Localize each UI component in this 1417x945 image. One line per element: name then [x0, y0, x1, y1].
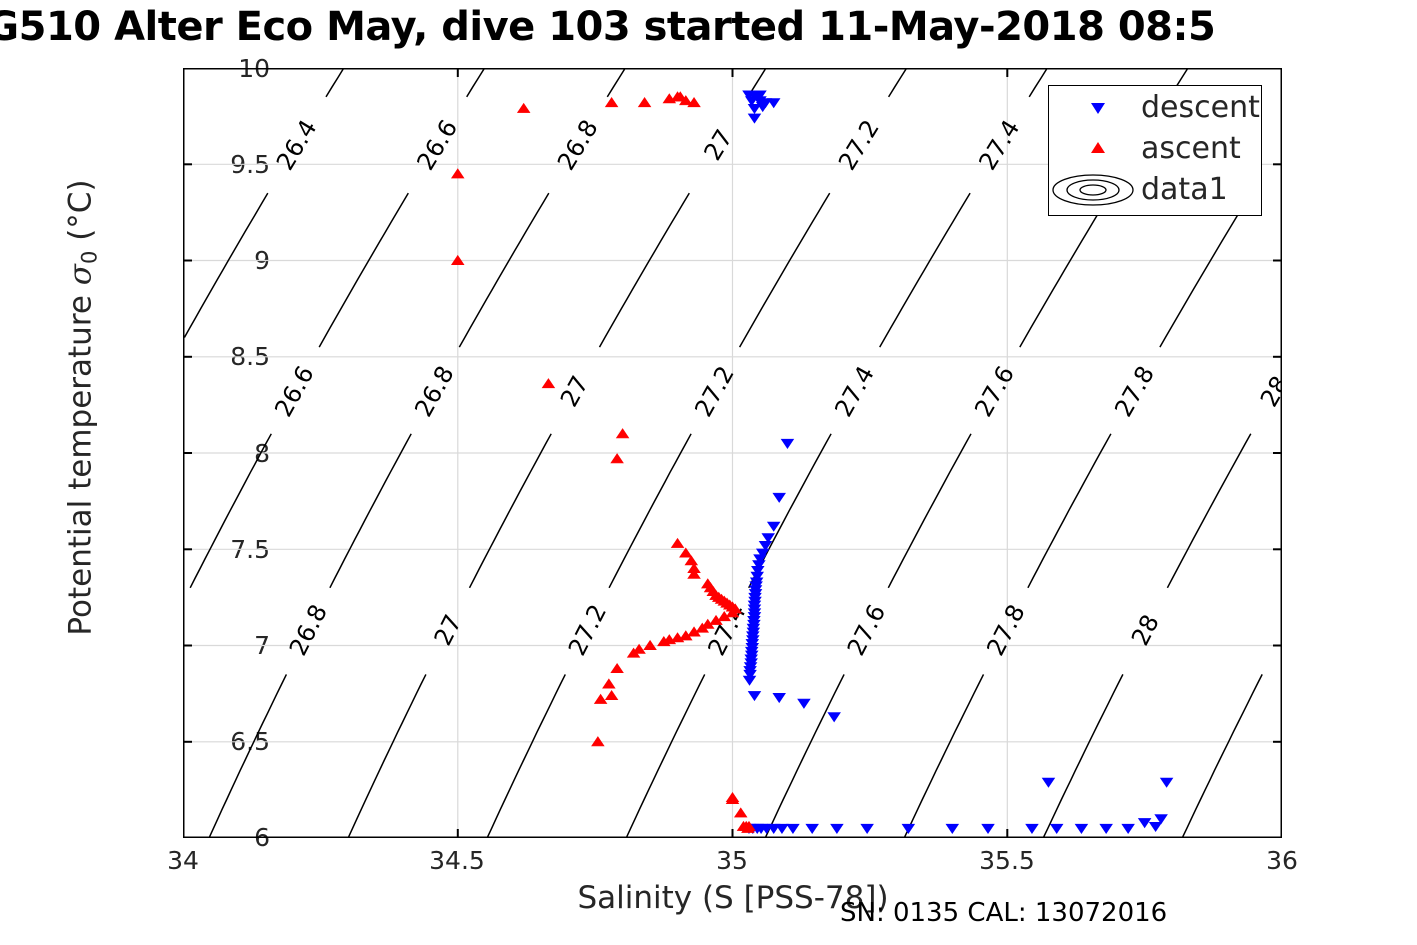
legend-label: descent [1141, 88, 1260, 127]
y-axis-label: Potential temperature σ0 (°C) [63, 58, 102, 758]
y-axis-label-prefix: Potential temperature [63, 285, 99, 635]
x-tick-label: 34.5 [397, 846, 517, 875]
contour-label: 27.4 [973, 115, 1025, 175]
x-tick-label: 36 [1222, 846, 1342, 875]
contour-label: 27.2 [563, 600, 612, 660]
contour-ellipses-icon [1049, 170, 1141, 209]
figure-title: SG510 Alter Eco May, dive 103 started 11… [0, 2, 1417, 54]
sigma-symbol: σ [63, 264, 99, 285]
contour-label: 27.6 [842, 600, 891, 660]
contour-label: 28 [1255, 371, 1282, 411]
contour-label: 27.2 [833, 115, 885, 175]
legend-label: ascent [1141, 129, 1241, 168]
contour-label: 26.6 [269, 361, 319, 421]
legend-item-descent[interactable]: descent [1049, 88, 1261, 127]
contour-label: 27.6 [969, 361, 1020, 421]
y-axis-label-suffix: (°C) [63, 179, 99, 250]
contour-label: 26.8 [552, 115, 604, 175]
legend-label: data1 [1141, 170, 1228, 209]
figure-title-text: SG510 Alter Eco May, dive 103 started 11… [0, 2, 1215, 52]
contour-label: 26.8 [284, 600, 333, 660]
contour-label: 27.8 [981, 600, 1030, 660]
sigma-subscript: 0 [78, 251, 102, 264]
triangle-up-icon [1049, 129, 1141, 168]
figure-canvas: SG510 Alter Eco May, dive 103 started 11… [0, 0, 1417, 945]
x-tick-label: 35.5 [947, 846, 1067, 875]
triangle-down-icon [1049, 88, 1141, 127]
contour-label: 26.4 [271, 115, 323, 175]
sensor-annotation: SN: 0135 CAL: 13072016 [840, 898, 1167, 928]
x-tick-label: 34 [123, 846, 243, 875]
contour-label: 27.8 [1109, 361, 1160, 421]
contour-label: 27 [555, 371, 594, 411]
series-ascent [452, 92, 756, 833]
contour-label: 26.6 [411, 115, 463, 175]
contour-label: 27 [429, 610, 468, 650]
legend-item-data1[interactable]: data1 [1049, 170, 1261, 209]
legend[interactable]: descent ascent data1 [1048, 85, 1262, 216]
contour-label: 27.4 [829, 361, 880, 421]
contour-label: 28 [1126, 610, 1165, 650]
contour-label: 26.8 [409, 361, 459, 421]
legend-item-ascent[interactable]: ascent [1049, 129, 1261, 168]
x-tick-label: 35 [672, 846, 792, 875]
